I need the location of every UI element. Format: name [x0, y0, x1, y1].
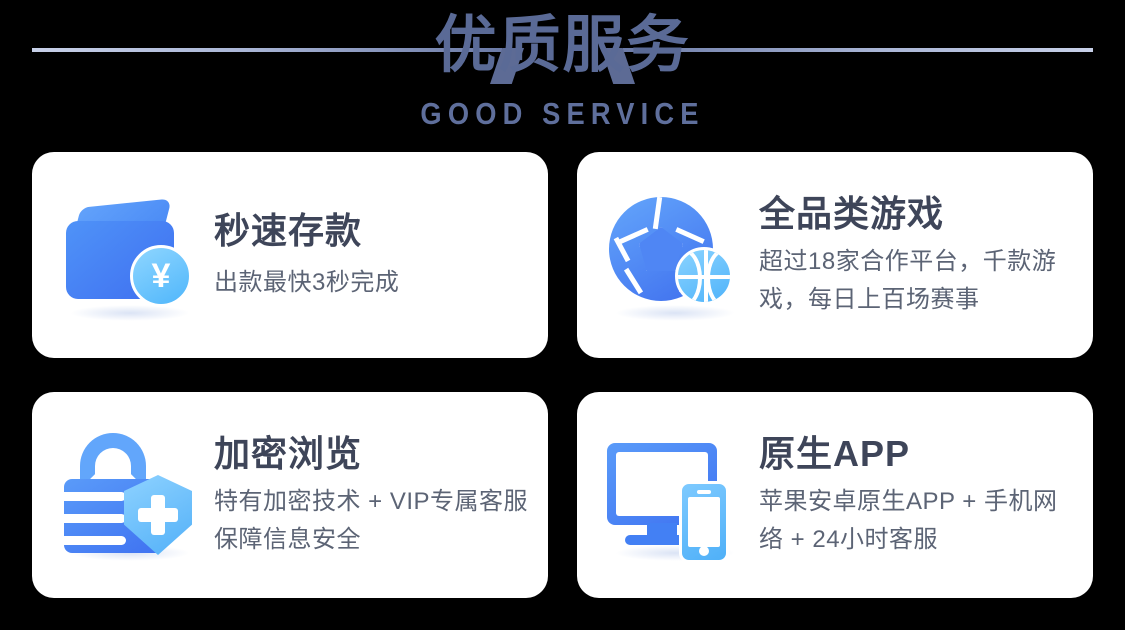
card-subtitle: 超过18家合作平台，千款游戏，每日上百场赛事	[759, 243, 1077, 319]
lock-slot	[64, 536, 126, 545]
feature-card-native-app[interactable]: 原生APP 苹果安卓原生APP + 手机网络 + 24小时客服	[577, 392, 1093, 598]
feature-card-encryption[interactable]: 加密浏览 特有加密技术 + VIP专属客服保障信息安全	[32, 392, 548, 598]
phone-home-button	[699, 546, 709, 556]
feature-card-grid: ¥ 秒速存款 出款最快3秒完成	[32, 152, 1093, 598]
feature-card-encryption-text: 加密浏览 特有加密技术 + VIP专属客服保障信息安全	[208, 431, 532, 559]
soccer-seam	[653, 197, 662, 229]
card-title: 加密浏览	[214, 431, 532, 477]
feature-card-native-app-text: 原生APP 苹果安卓原生APP + 手机网络 + 24小时客服	[753, 431, 1077, 559]
soccer-seam	[624, 268, 643, 294]
basketball-curve	[675, 248, 702, 305]
cross-icon	[138, 508, 178, 522]
icon-shadow	[70, 305, 190, 321]
wallet-yen-icon: ¥	[58, 185, 208, 325]
card-subtitle: 出款最快3秒完成	[214, 264, 532, 302]
page-title: 优质服务	[0, 6, 1125, 86]
feature-card-deposit-text: 秒速存款 出款最快3秒完成	[208, 208, 532, 302]
feature-card-deposit[interactable]: ¥ 秒速存款 出款最快3秒完成	[32, 152, 548, 358]
lock-slot	[64, 492, 126, 501]
monitor-phone-icon	[603, 425, 753, 565]
card-subtitle: 苹果安卓原生APP + 手机网络 + 24小时客服	[759, 483, 1077, 559]
lock-slot	[64, 514, 126, 523]
card-title: 全品类游戏	[759, 191, 1077, 237]
soccer-basketball-icon	[603, 185, 753, 325]
page-subtitle: GOOD SERVICE	[68, 96, 1058, 132]
lock-shield-icon	[58, 425, 208, 565]
card-title: 原生APP	[759, 431, 1077, 477]
feature-card-games-text: 全品类游戏 超过18家合作平台，千款游戏，每日上百场赛事	[753, 191, 1077, 319]
page-header: 优质服务 GOOD SERVICE	[0, 0, 1125, 142]
basketball-curve	[706, 248, 733, 305]
phone-speaker	[697, 490, 711, 494]
card-subtitle: 特有加密技术 + VIP专属客服保障信息安全	[214, 483, 532, 559]
feature-card-games[interactable]: 全品类游戏 超过18家合作平台，千款游戏，每日上百场赛事	[577, 152, 1093, 358]
phone-screen	[688, 497, 720, 547]
card-title: 秒速存款	[214, 208, 532, 254]
promo-page: 优质服务 GOOD SERVICE ¥ 秒速存款 出款最快3秒完成	[0, 0, 1125, 630]
icon-shadow	[615, 305, 735, 321]
phone-icon	[679, 481, 729, 563]
basketball-icon	[675, 247, 733, 305]
yen-coin-icon: ¥	[130, 245, 192, 307]
